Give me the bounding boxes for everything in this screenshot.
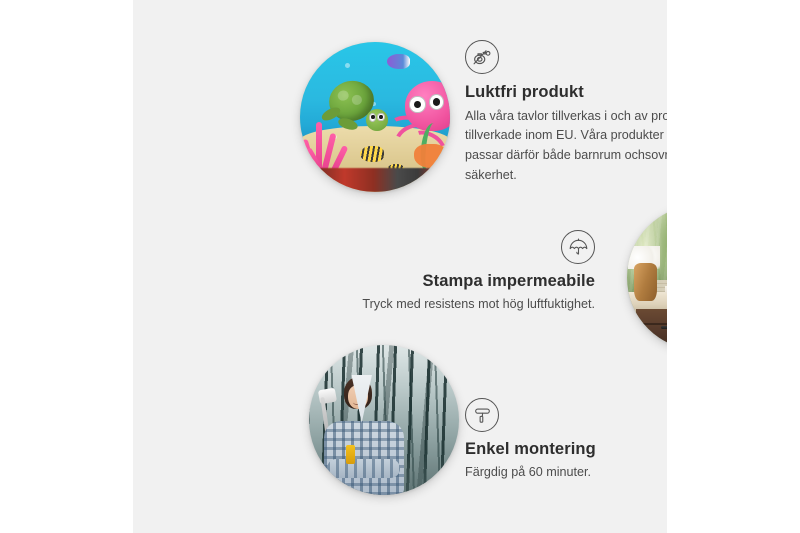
forest-mural-scene xyxy=(309,345,459,495)
feature-mounting-icon-wrap xyxy=(465,398,667,432)
woman-figure xyxy=(318,375,411,495)
yellow-tool xyxy=(346,445,355,464)
feature-odourless-icon-wrap xyxy=(465,40,667,74)
feature-waterproof-title: Stampa impermeabile xyxy=(323,272,595,291)
wooden-vanity-cabinet xyxy=(636,309,667,350)
octopus-eye xyxy=(409,96,425,113)
purple-fish-icon xyxy=(387,54,410,69)
octopus-head xyxy=(405,81,450,131)
turtle-eye xyxy=(369,113,376,122)
underwater-cartoon-photo[interactable] xyxy=(300,42,450,192)
feature-waterproof: Stampa impermeabile Tryck med resistens … xyxy=(323,230,595,314)
feature-waterproof-icon-wrap xyxy=(323,230,595,264)
feature-odourless: Luktfri produkt Alla våra tavlor tillver… xyxy=(465,40,667,185)
feature-mounting-body: Färgdig på 60 minuter. xyxy=(465,463,667,483)
umbrella-icon xyxy=(561,230,595,264)
feature-waterproof-body: Tryck med resistens mot hög luftfuktighe… xyxy=(323,295,595,315)
no-fragrance-bottle-icon xyxy=(465,40,499,74)
paint-roller-icon xyxy=(465,398,499,432)
cabinet-seam xyxy=(636,323,667,325)
underwater-cartoon-artwork xyxy=(300,42,450,192)
woman-folded-arms xyxy=(327,459,400,478)
feature-odourless-title: Luktfri produkt xyxy=(465,83,667,102)
starfish-icon xyxy=(414,144,447,168)
content-panel: Luktfri produkt Alla våra tavlor tillver… xyxy=(133,0,667,533)
bathroom-leaf-wallpaper-photo[interactable] xyxy=(627,205,667,350)
bubble-icon xyxy=(345,63,350,68)
striped-fish-icon xyxy=(360,146,384,163)
feature-mounting-title: Enkel montering xyxy=(465,440,667,459)
woman-plaid-shirt xyxy=(324,421,404,495)
turtle-head xyxy=(366,109,388,131)
page-root: Luktfri produkt Alla våra tavlor tillver… xyxy=(0,0,800,533)
pink-coral-icon xyxy=(303,117,354,171)
wooden-vase xyxy=(634,263,657,301)
octopus-eye xyxy=(429,94,444,110)
turtle-eye xyxy=(377,113,384,122)
drawer-handle xyxy=(661,326,667,329)
feature-odourless-body: Alla våra tavlor tillverkas i och av pro… xyxy=(465,107,667,185)
photo-bottom-strip xyxy=(312,168,450,192)
woman-paint-roller-forest-photo[interactable] xyxy=(309,345,459,495)
bathroom-scene xyxy=(627,205,667,350)
feature-mounting: Enkel montering Färgdig på 60 minuter. xyxy=(465,398,667,482)
